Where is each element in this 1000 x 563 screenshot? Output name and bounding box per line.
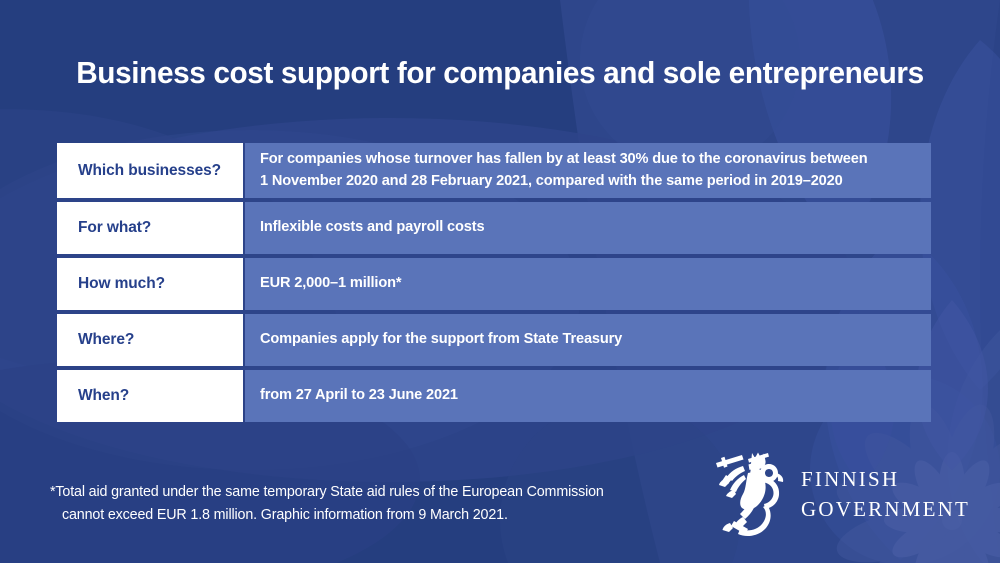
- row-label-text: Which businesses?: [57, 162, 221, 180]
- finnish-lion-coat-of-arms-icon: [712, 447, 786, 543]
- support-details-table: Which businesses? For companies whose tu…: [57, 143, 931, 426]
- row-label-cell: Which businesses?: [57, 143, 243, 198]
- row-label-cell: When?: [57, 370, 243, 422]
- logo-wordmark-line-2: GOVERNMENT: [801, 495, 970, 525]
- row-value-text: Inflexible costs and payroll costs: [245, 217, 498, 238]
- table-row: Where? Companies apply for the support f…: [57, 314, 931, 366]
- row-value-cell: For companies whose turnover has fallen …: [245, 143, 931, 198]
- row-label-cell: Where?: [57, 314, 243, 366]
- page-title: Business cost support for companies and …: [20, 55, 980, 91]
- footnote-line-1: *Total aid granted under the same tempor…: [50, 481, 650, 504]
- row-label-text: Where?: [57, 331, 134, 349]
- row-value-cell: Companies apply for the support from Sta…: [245, 314, 931, 366]
- table-row: For what? Inflexible costs and payroll c…: [57, 202, 931, 254]
- row-label-text: When?: [57, 387, 129, 405]
- table-row: How much? EUR 2,000–1 million*: [57, 258, 931, 310]
- row-value-text: EUR 2,000–1 million*: [245, 273, 415, 294]
- row-value-text: For companies whose turnover has fallen …: [245, 149, 882, 192]
- row-label-cell: For what?: [57, 202, 243, 254]
- row-value-cell: Inflexible costs and payroll costs: [245, 202, 931, 254]
- row-value-line-1: For companies whose turnover has fallen …: [260, 151, 868, 167]
- table-row: When? from 27 April to 23 June 2021: [57, 370, 931, 422]
- infographic-canvas: Business cost support for companies and …: [0, 0, 1000, 563]
- row-label-text: For what?: [57, 219, 151, 237]
- row-value-line-2: 1 November 2020 and 28 February 2021, co…: [260, 173, 843, 189]
- footnote: *Total aid granted under the same tempor…: [50, 481, 650, 526]
- footnote-line-2: cannot exceed EUR 1.8 million. Graphic i…: [50, 504, 650, 527]
- table-row: Which businesses? For companies whose tu…: [57, 143, 931, 198]
- row-value-text: from 27 April to 23 June 2021: [245, 385, 472, 406]
- logo-wordmark-line-1: FINNISH: [801, 465, 970, 495]
- row-label-text: How much?: [57, 275, 165, 293]
- row-value-text: Companies apply for the support from Sta…: [245, 329, 636, 350]
- logo-wordmark: FINNISH GOVERNMENT: [801, 465, 970, 525]
- row-value-cell: EUR 2,000–1 million*: [245, 258, 931, 310]
- row-label-cell: How much?: [57, 258, 243, 310]
- finnish-government-logo: FINNISH GOVERNMENT: [712, 447, 970, 543]
- row-value-cell: from 27 April to 23 June 2021: [245, 370, 931, 422]
